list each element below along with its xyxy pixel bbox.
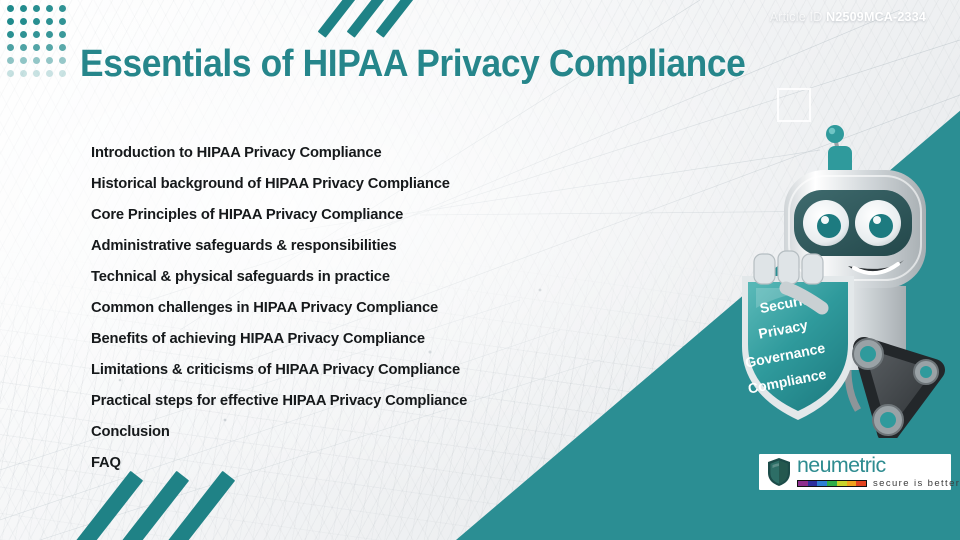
article-id: Article ID N2509MCA-2334 (770, 10, 926, 24)
rainbow-segment (837, 481, 847, 486)
dot-decoration (7, 31, 14, 38)
dot-grid-decoration (4, 2, 69, 80)
dot-decoration (46, 57, 53, 64)
rainbow-segment (817, 481, 827, 486)
dot-decoration (59, 57, 66, 64)
rainbow-segment (847, 481, 857, 486)
dot-decoration (7, 70, 14, 77)
diagonal-stripes-top (332, 0, 452, 38)
dot-decoration (20, 18, 27, 25)
dot-decoration (20, 31, 27, 38)
agenda-list: Introduction to HIPAA Privacy Compliance… (91, 137, 561, 478)
rainbow-segment (856, 481, 866, 486)
dot-grid-row (4, 41, 69, 54)
dot-decoration (7, 57, 14, 64)
shield-icon (766, 457, 792, 487)
dot-grid-row (4, 28, 69, 41)
agenda-item[interactable]: Limitations & criticisms of HIPAA Privac… (91, 354, 547, 385)
dot-decoration (7, 5, 14, 12)
dot-decoration (59, 44, 66, 51)
agenda-item[interactable]: Conclusion (91, 416, 547, 447)
dot-decoration (46, 70, 53, 77)
article-id-value: N2509MCA-2334 (826, 10, 926, 24)
dot-decoration (59, 70, 66, 77)
dot-decoration (20, 44, 27, 51)
dot-decoration (33, 31, 40, 38)
agenda-item[interactable]: Benefits of achieving HIPAA Privacy Comp… (91, 323, 547, 354)
agenda-item[interactable]: Core Principles of HIPAA Privacy Complia… (91, 199, 547, 230)
logo-tagline: secure is better (873, 478, 960, 489)
stripe-decoration (376, 0, 415, 38)
dot-decoration (33, 44, 40, 51)
dot-grid-row (4, 2, 69, 15)
dot-decoration (46, 31, 53, 38)
dot-decoration (20, 5, 27, 12)
dot-grid-row (4, 67, 69, 80)
dot-decoration (59, 31, 66, 38)
dot-grid-row (4, 54, 69, 67)
article-id-label: Article ID (770, 10, 823, 24)
diagonal-stripes-bottom (95, 470, 245, 540)
dot-decoration (7, 44, 14, 51)
agenda-item[interactable]: Introduction to HIPAA Privacy Compliance (91, 137, 547, 168)
slide-canvas: Article ID N2509MCA-2334 Essentials of H… (0, 0, 960, 540)
dot-grid-row (4, 15, 69, 28)
agenda-item[interactable]: FAQ (91, 447, 547, 478)
dot-decoration (33, 70, 40, 77)
rainbow-segment (808, 481, 818, 486)
agenda-item[interactable]: Practical steps for effective HIPAA Priv… (91, 385, 547, 416)
rainbow-bar-icon (797, 480, 867, 487)
dot-decoration (59, 18, 66, 25)
dot-decoration (46, 5, 53, 12)
agenda-item[interactable]: Common challenges in HIPAA Privacy Compl… (91, 292, 547, 323)
rainbow-segment (827, 481, 837, 486)
dot-decoration (33, 57, 40, 64)
logo-wordmark: neumetric (797, 455, 960, 476)
dot-decoration (20, 70, 27, 77)
agenda-item[interactable]: Technical & physical safeguards in pract… (91, 261, 547, 292)
dot-decoration (7, 18, 14, 25)
rainbow-segment (798, 481, 808, 486)
dot-decoration (33, 18, 40, 25)
agenda-item[interactable]: Historical background of HIPAA Privacy C… (91, 168, 547, 199)
neumetric-logo[interactable]: neumetric secure is better (757, 452, 953, 492)
dot-decoration (20, 57, 27, 64)
page-title: Essentials of HIPAA Privacy Compliance (80, 42, 745, 86)
dot-decoration (33, 5, 40, 12)
agenda-item[interactable]: Administrative safeguards & responsibili… (91, 230, 547, 261)
robot-mascot: Security Privacy Governance Compliance (726, 108, 960, 438)
dot-decoration (46, 44, 53, 51)
dot-decoration (46, 18, 53, 25)
dot-decoration (59, 5, 66, 12)
